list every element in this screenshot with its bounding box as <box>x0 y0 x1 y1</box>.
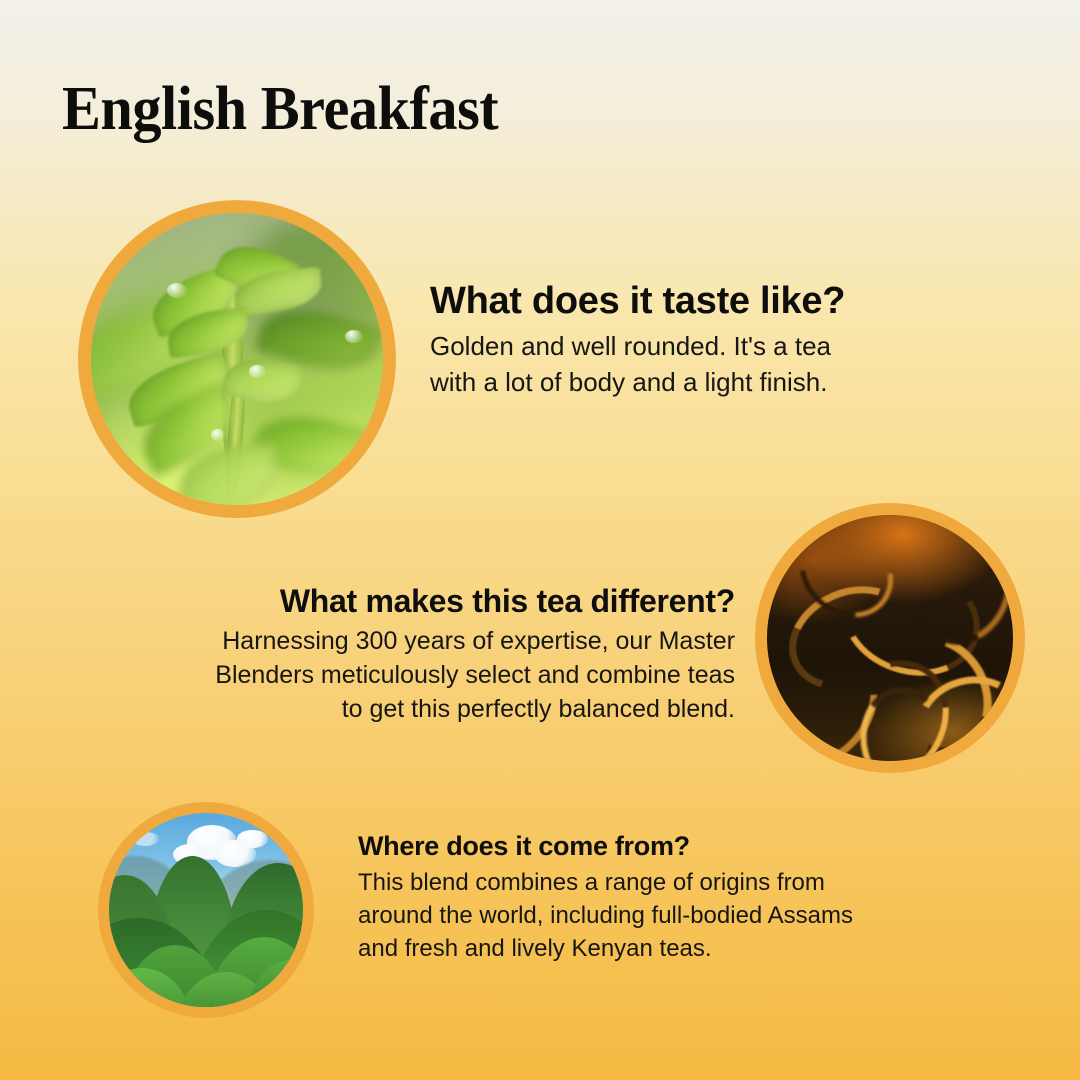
photo-clip <box>109 813 303 1007</box>
mountain-scene <box>109 813 303 1007</box>
section-heading-origin: Where does it come from? <box>358 828 918 864</box>
section-body-origin-line-1: This blend combines a range of origins f… <box>358 866 918 899</box>
section-heading-different: What makes this tea different? <box>110 580 735 622</box>
dew-drop-icon <box>211 429 226 441</box>
section-different: What makes this tea different? Harnessin… <box>110 580 735 726</box>
dew-drop-icon <box>249 365 267 378</box>
cloud-icon <box>237 830 268 847</box>
dew-drop-icon <box>345 330 363 343</box>
section-body-taste-line-1: Golden and well rounded. It's a tea <box>430 328 950 364</box>
mountain-landscape-photo <box>98 802 314 1018</box>
black-tea-leaves-photo <box>755 503 1025 773</box>
section-body-different-line-2: Blenders meticulously select and combine… <box>110 658 735 692</box>
section-heading-taste: What does it taste like? <box>430 278 950 324</box>
photo-clip <box>91 213 383 505</box>
section-body-origin-line-3: and fresh and lively Kenyan teas. <box>358 932 918 965</box>
leaf-scene <box>91 213 383 505</box>
product-info-card: English Breakfast <box>0 0 1080 1080</box>
section-body-different-line-1: Harnessing 300 years of expertise, our M… <box>110 624 735 658</box>
cloud-icon <box>132 832 159 846</box>
page-title: English Breakfast <box>62 74 498 144</box>
dry-tea-scene <box>767 515 1013 761</box>
photo-clip <box>767 515 1013 761</box>
section-origin: Where does it come from? This blend comb… <box>358 828 918 965</box>
section-body-taste-line-2: with a lot of body and a light finish. <box>430 364 950 400</box>
tea-plant-photo <box>78 200 396 518</box>
dew-drop-icon <box>167 283 187 298</box>
section-body-different-line-3: to get this perfectly balanced blend. <box>110 692 735 726</box>
section-taste: What does it taste like? Golden and well… <box>430 278 950 400</box>
section-body-origin-line-2: around the world, including full-bodied … <box>358 899 918 932</box>
